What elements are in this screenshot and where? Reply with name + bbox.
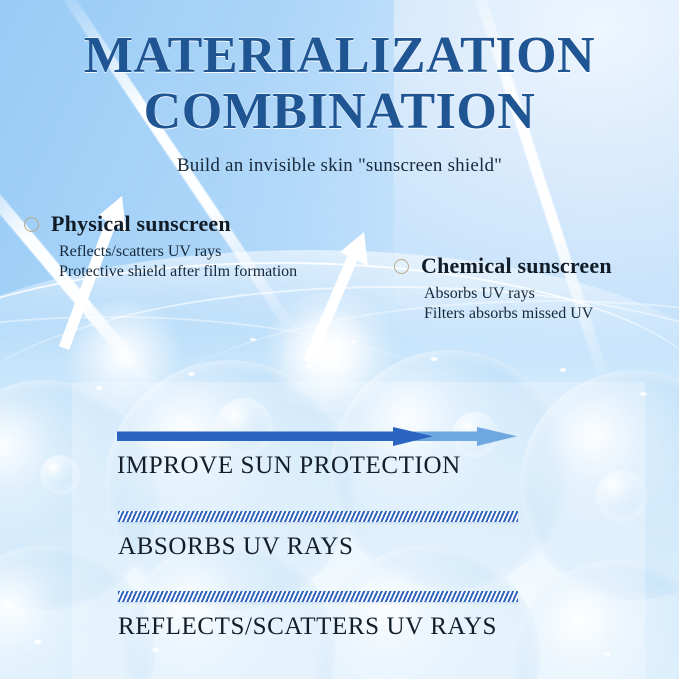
hatched-bar-icon	[118, 511, 518, 522]
feature-physical-sunscreen: Physical sunscreen Reflects/scatters UV …	[24, 211, 297, 282]
bubble-speck	[430, 357, 438, 361]
circle-outline-icon	[24, 217, 39, 232]
feature-heading: Physical sunscreen	[24, 211, 297, 237]
title-line-2: COMBINATION	[0, 84, 679, 140]
feature-heading: Chemical sunscreen	[394, 253, 612, 279]
feature-line: Reflects/scatters UV rays	[59, 242, 297, 262]
feature-description: Reflects/scatters UV rays Protective shi…	[59, 242, 297, 282]
feature-line: Filters absorbs missed UV	[424, 304, 612, 324]
feature-description: Absorbs UV rays Filters absorbs missed U…	[424, 284, 612, 324]
feature-line: Protective shield after film formation	[59, 262, 297, 282]
feature-title: Physical sunscreen	[51, 211, 231, 237]
feature-title: Chemical sunscreen	[421, 253, 612, 279]
page-subtitle: Build an invisible skin "sunscreen shiel…	[0, 155, 679, 177]
page-title: MATERIALIZATION COMBINATION	[0, 28, 679, 140]
feature-chemical-sunscreen: Chemical sunscreen Absorbs UV rays Filte…	[394, 253, 612, 324]
bubble-speck	[560, 368, 566, 372]
bubble-speck	[188, 372, 195, 376]
benefit-label-absorb: ABSORBS UV RAYS	[118, 533, 354, 561]
benefit-label-reflect: REFLECTS/SCATTERS UV RAYS	[118, 613, 497, 641]
bubble-speck	[250, 338, 256, 341]
sunscreen-infographic-poster: MATERIALIZATION COMBINATION Build an inv…	[0, 0, 679, 679]
double-arrow-right-icon	[117, 427, 517, 449]
title-line-1: MATERIALIZATION	[0, 28, 679, 84]
benefit-label-improve: IMPROVE SUN PROTECTION	[117, 452, 461, 480]
hatched-bar-icon	[118, 591, 518, 602]
circle-outline-icon	[394, 259, 409, 274]
feature-line: Absorbs UV rays	[424, 284, 612, 304]
bubble-speck	[34, 640, 42, 644]
arrow-dark	[117, 427, 433, 446]
